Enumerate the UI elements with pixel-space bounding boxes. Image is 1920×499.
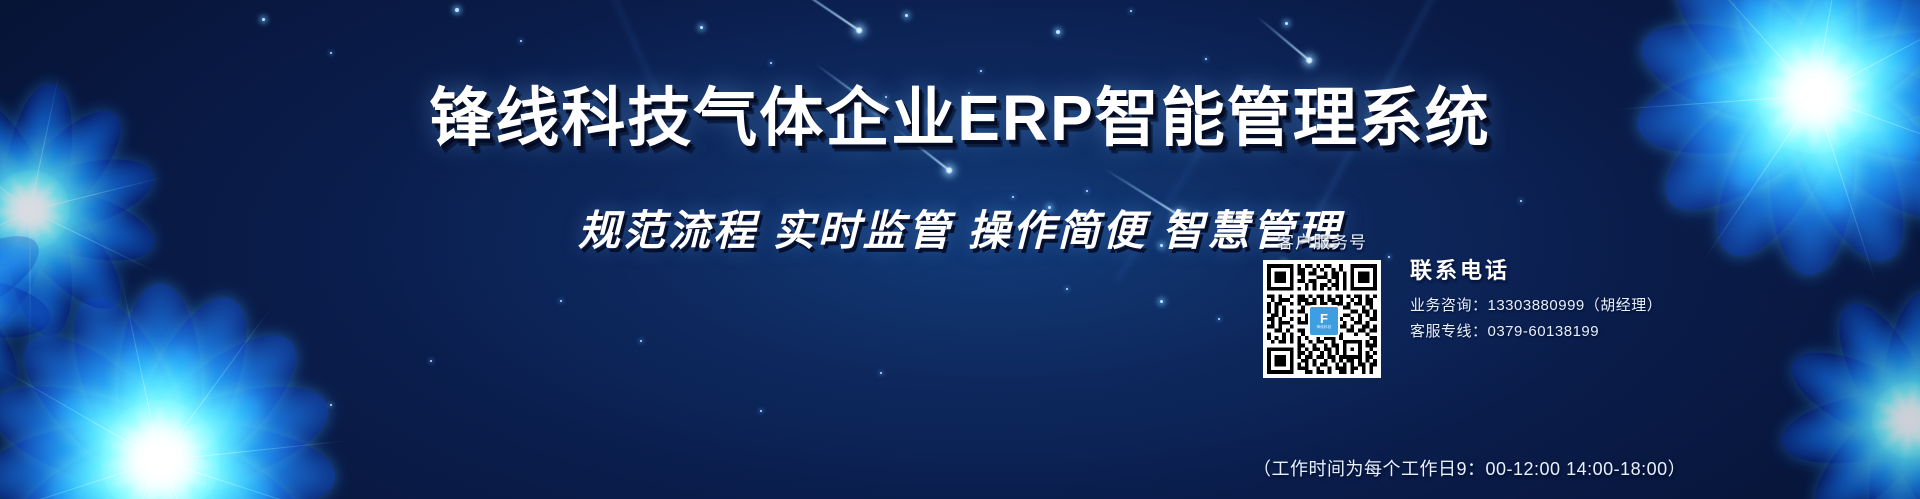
- qr-code-block[interactable]: 客户服务号: [1258, 228, 1386, 378]
- contact-sales-line: 业务咨询：13303880999（胡经理）: [1410, 294, 1662, 315]
- contact-service-line: 客服专线：0379-60138199: [1410, 320, 1662, 341]
- qr-logo-mark: F: [1320, 312, 1328, 325]
- fractal-flower-bottom-left: [0, 250, 370, 499]
- qr-logo-subtext: 锋线科技: [1317, 326, 1332, 330]
- meteor-streak: [1256, 15, 1311, 62]
- erp-hero-banner: 锋线科技气体企业ERP智能管理系统 规范流程 实时监管 操作简便 智慧管理 客户…: [0, 0, 1920, 499]
- qr-code-image[interactable]: F 锋线科技: [1263, 260, 1381, 378]
- fractal-flower-left-edge: [0, 170, 70, 430]
- qr-center-logo: F 锋线科技: [1308, 305, 1340, 337]
- working-hours-note: （工作时间为每个工作日9：00-12:00 14:00-18:00）: [1253, 455, 1686, 481]
- banner-headline: 锋线科技气体企业ERP智能管理系统: [0, 86, 1920, 150]
- qr-code-label: 客户服务号: [1258, 228, 1386, 253]
- contact-phone-title: 联系电话: [1410, 253, 1662, 285]
- phone-block: 联系电话 业务咨询：13303880999（胡经理） 客服专线：0379-601…: [1410, 253, 1662, 341]
- fractal-flower-right-lower: [1760, 270, 1920, 499]
- banner-subline: 规范流程 实时监管 操作简便 智慧管理: [0, 210, 1920, 252]
- meteor-streak: [760, 0, 861, 32]
